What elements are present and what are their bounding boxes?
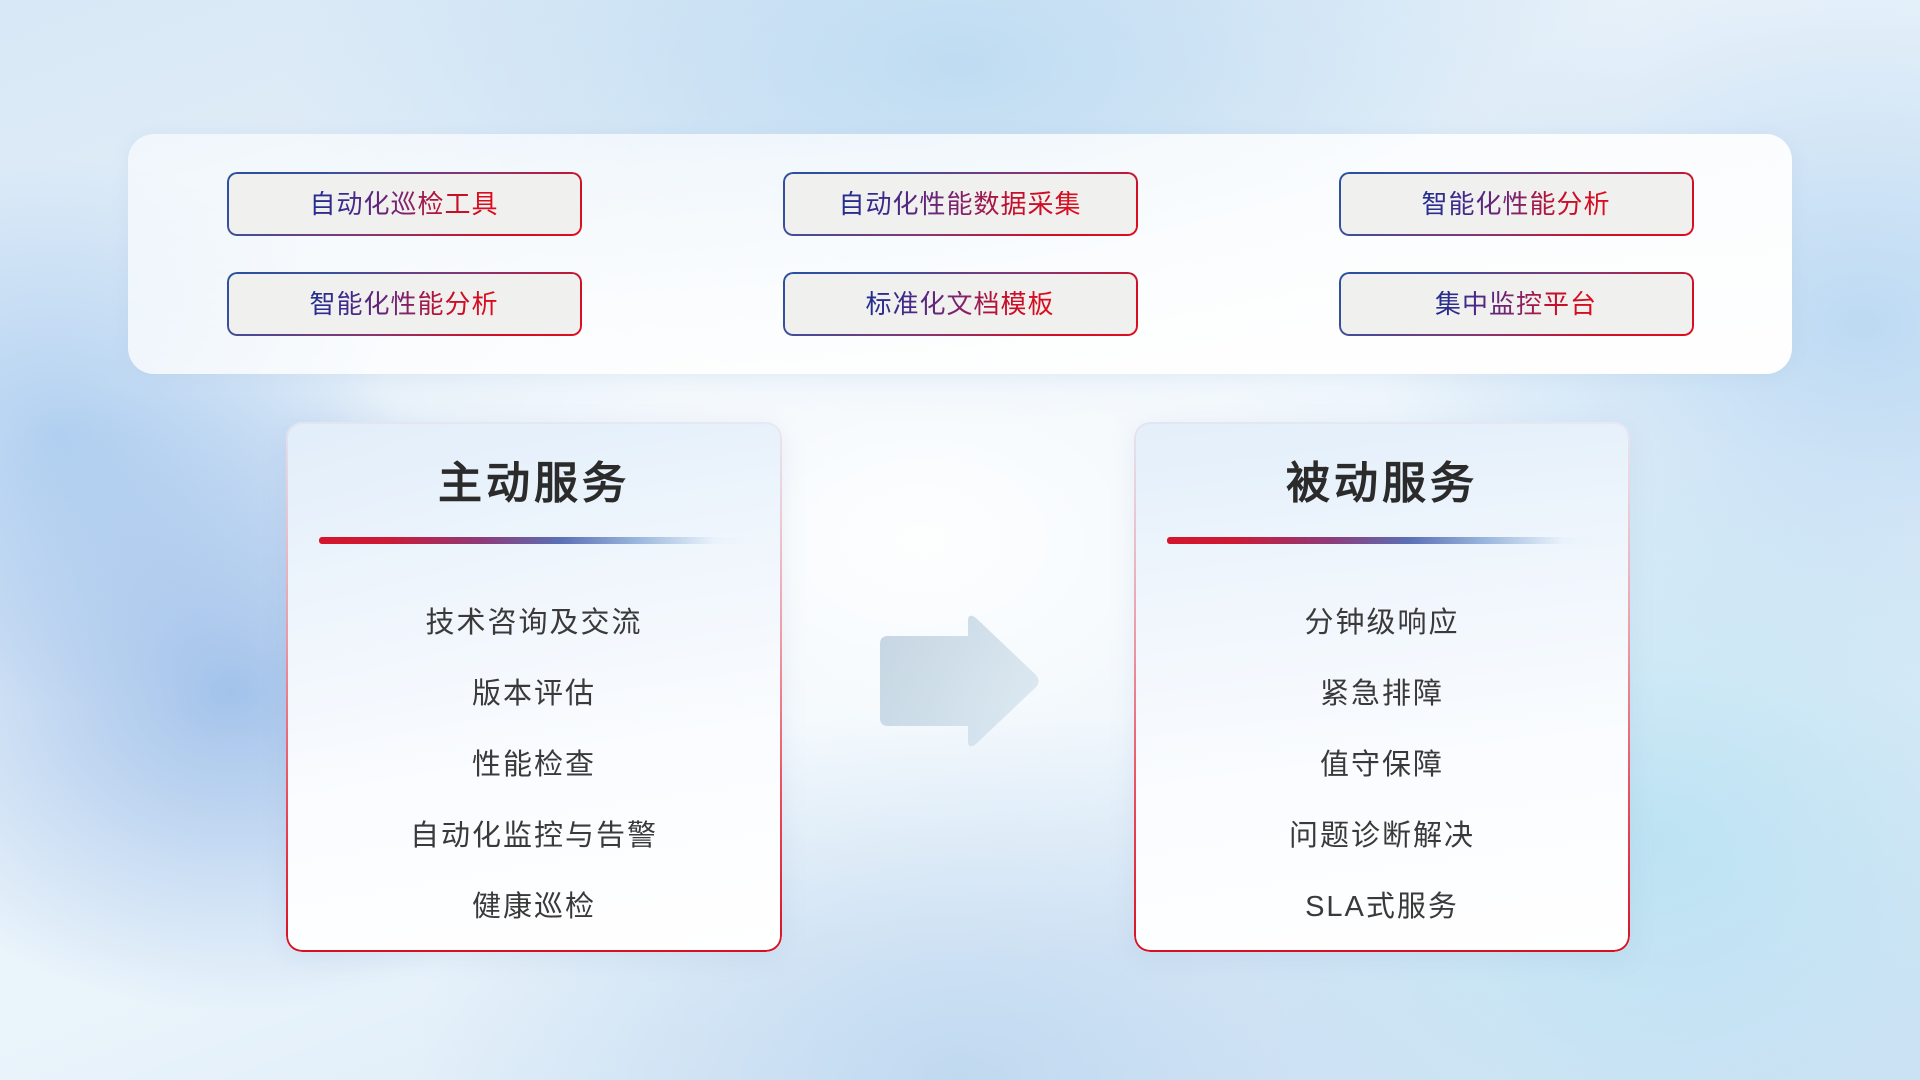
- flow-arrow-right-icon: [872, 612, 1042, 750]
- capability-chip-label: 自动化性能数据采集: [838, 191, 1081, 217]
- list-item: 健康巡检: [286, 872, 782, 943]
- active-service-list: 技术咨询及交流 版本评估 性能检查 自动化监控与告警 健康巡检: [286, 588, 782, 943]
- list-item: 自动化监控与告警: [286, 801, 782, 872]
- capability-chip-label: 标准化文档模板: [865, 291, 1054, 317]
- capability-chip-grid: 自动化巡检工具 自动化性能数据采集 智能化性能分析 智能化性能分析 标准化文档模…: [227, 172, 1694, 336]
- passive-service-title: 被动服务: [1134, 458, 1630, 511]
- list-item: 性能检查: [286, 730, 782, 801]
- capability-panel: 自动化巡检工具 自动化性能数据采集 智能化性能分析 智能化性能分析 标准化文档模…: [128, 134, 1792, 374]
- slide-canvas: 自动化巡检工具 自动化性能数据采集 智能化性能分析 智能化性能分析 标准化文档模…: [0, 0, 1920, 1080]
- passive-service-divider: [1167, 537, 1597, 544]
- passive-service-card: 被动服务 分钟级响应 紧急排障 值守保障 问题诊断解决 SLA式服务: [1134, 422, 1630, 952]
- active-service-divider: [319, 537, 749, 544]
- capability-chip-1[interactable]: 自动化巡检工具: [227, 172, 582, 236]
- capability-chip-label: 智能化性能分析: [309, 291, 498, 317]
- capability-chip-3[interactable]: 智能化性能分析: [1339, 172, 1694, 236]
- capability-chip-label: 智能化性能分析: [1421, 191, 1610, 217]
- capability-chip-6[interactable]: 集中监控平台: [1339, 272, 1694, 336]
- capability-chip-label: 自动化巡检工具: [309, 191, 498, 217]
- list-item: SLA式服务: [1134, 872, 1630, 943]
- list-item: 值守保障: [1134, 730, 1630, 801]
- list-item: 问题诊断解决: [1134, 801, 1630, 872]
- list-item: 分钟级响应: [1134, 588, 1630, 659]
- active-service-card: 主动服务 技术咨询及交流 版本评估 性能检查 自动化监控与告警 健康巡检: [286, 422, 782, 952]
- list-item: 紧急排障: [1134, 659, 1630, 730]
- passive-service-list: 分钟级响应 紧急排障 值守保障 问题诊断解决 SLA式服务: [1134, 588, 1630, 943]
- capability-chip-4[interactable]: 智能化性能分析: [227, 272, 582, 336]
- capability-chip-2[interactable]: 自动化性能数据采集: [783, 172, 1138, 236]
- capability-chip-label: 集中监控平台: [1435, 291, 1597, 317]
- active-service-title: 主动服务: [286, 458, 782, 511]
- capability-chip-5[interactable]: 标准化文档模板: [783, 272, 1138, 336]
- list-item: 技术咨询及交流: [286, 588, 782, 659]
- list-item: 版本评估: [286, 659, 782, 730]
